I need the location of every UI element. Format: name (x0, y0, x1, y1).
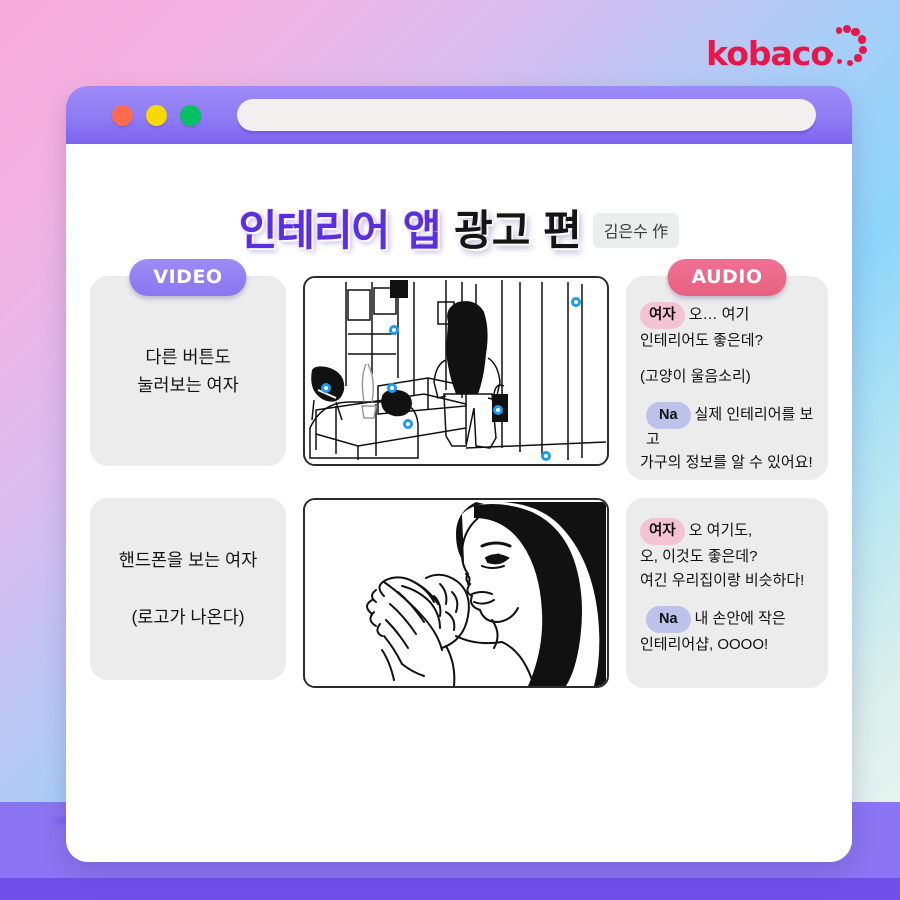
address-bar[interactable] (237, 99, 816, 131)
browser-titlebar (66, 86, 852, 144)
audio-panel: 여자오 여기도,오, 이것도 좋은데?여긴 우리집이랑 비슷하다!Na내 손안에… (626, 498, 828, 688)
video-description-text: 핸드폰을 보는 여자 (로고가 나온다) (119, 546, 258, 631)
audio-line-text: 가구의 정보를 알 수 있어요! (640, 454, 813, 471)
minimize-dot[interactable] (146, 105, 167, 126)
desk-shelf-edge (0, 878, 900, 900)
page-content: 인테리어 앱 광고 편 김은수 作 VIDEO다른 버튼도 눌러보는 여자 (66, 144, 852, 862)
storyboard-frame (303, 276, 609, 466)
audio-line: 여긴 우리집이랑 비슷하다! (640, 570, 816, 593)
audio-line-text: (고양이 울음소리) (640, 368, 751, 385)
traffic-light-group (112, 105, 201, 126)
storyboard-frame (303, 498, 609, 688)
browser-window: 인테리어 앱 광고 편 김은수 作 VIDEO다른 버튼도 눌러보는 여자 (66, 86, 852, 862)
audio-line-text: 여긴 우리집이랑 비슷하다! (640, 572, 804, 589)
audio-line: 오, 이것도 좋은데? (640, 546, 816, 569)
storyboard-row: VIDEO다른 버튼도 눌러보는 여자 (88, 276, 830, 480)
headline-black: 광고 편 (454, 206, 581, 255)
audio-line-text: 오 여기도, (689, 522, 753, 539)
kobaco-dots-icon (824, 22, 874, 72)
kobaco-wordmark: kobaco (706, 37, 832, 70)
audio-line-text: 오… 여기 (689, 306, 750, 323)
maximize-dot[interactable] (180, 105, 201, 126)
audio-line-text: 오, 이것도 좋은데? (640, 548, 757, 565)
video-description-text: 다른 버튼도 눌러보는 여자 (137, 343, 238, 400)
page-title: 인테리어 앱 광고 편 김은수 作 (66, 144, 852, 252)
storyboard: VIDEO다른 버튼도 눌러보는 여자 (88, 276, 830, 688)
video-column-label: VIDEO (129, 259, 246, 296)
kobaco-logo: kobaco (706, 18, 874, 70)
video-description-panel: VIDEO다른 버튼도 눌러보는 여자 (90, 276, 286, 466)
speaker-tag: 여자 (640, 302, 685, 329)
speaker-tag: 여자 (640, 518, 685, 545)
video-description-panel: 핸드폰을 보는 여자 (로고가 나온다) (90, 498, 286, 680)
storyboard-row: 핸드폰을 보는 여자 (로고가 나온다) (88, 498, 830, 688)
narrator-tag: Na (646, 606, 691, 633)
audio-line: 여자오 여기도, (640, 518, 816, 545)
headline-purple: 인테리어 앱 (239, 206, 441, 255)
narrator-tag: Na (646, 402, 691, 429)
audio-panel: AUDIO여자오… 여기인테리어도 좋은데?(고양이 울음소리)Na실제 인테리… (626, 276, 828, 480)
audio-line-text: 인테리어도 좋은데? (640, 332, 763, 349)
audio-line-text: 내 손안에 작은 (695, 610, 786, 627)
scene-woman-phone (305, 500, 607, 686)
poster-canvas: kobaco 인테리어 앱 광고 편 김은수 作 VIDEO다른 버튼도 눌러보… (0, 0, 900, 900)
author-badge: 김은수 作 (593, 213, 680, 248)
audio-column-label: AUDIO (667, 259, 786, 296)
audio-line: 인테리어샵, OOOO! (640, 634, 816, 657)
audio-line: 가구의 정보를 알 수 있어요! (640, 452, 816, 475)
headline: 인테리어 앱 광고 편 (239, 210, 581, 252)
audio-line: Na실제 인테리어를 보고 (640, 402, 816, 452)
audio-line: Na내 손안에 작은 (640, 606, 816, 633)
close-dot[interactable] (112, 105, 133, 126)
audio-line-text: 인테리어샵, OOOO! (640, 636, 768, 653)
audio-line: 여자오… 여기 (640, 302, 816, 329)
audio-line: (고양이 울음소리) (640, 366, 816, 389)
scene-interior-room (305, 278, 607, 464)
audio-line: 인테리어도 좋은데? (640, 330, 816, 353)
